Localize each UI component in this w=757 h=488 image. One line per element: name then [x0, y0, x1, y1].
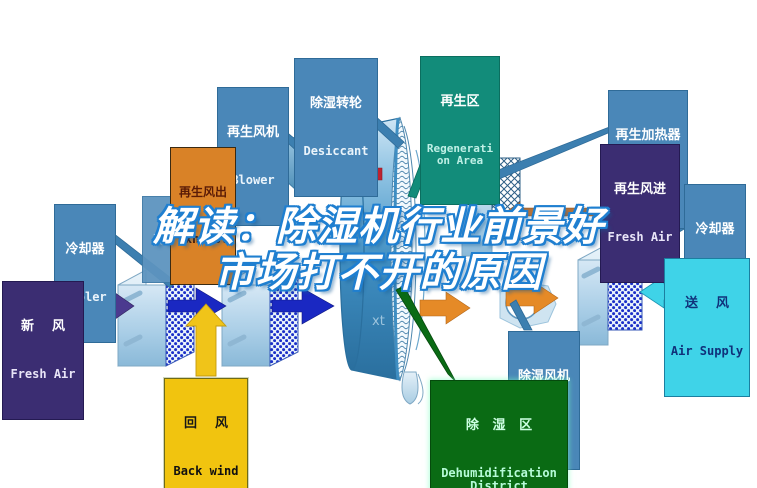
label-fresh-air-intake-en: Fresh Air: [7, 368, 79, 381]
label-regen-exhaust: 再生风出 Exhaust: [170, 147, 236, 285]
label-regen-fresh-air-en: Fresh Air: [605, 231, 675, 244]
label-regen-exhaust-cn: 再生风出: [175, 186, 231, 199]
label-air-supply: 送 风 Air Supply: [664, 258, 750, 397]
label-desiccant-rotor: 除湿转轮 Desiccant: [294, 58, 378, 197]
label-regen-blower-cn: 再生风机: [222, 126, 284, 140]
label-back-wind-en: Back wind: [169, 465, 243, 478]
label-back-wind-cn: 回 风: [169, 417, 243, 431]
label-air-supply-en: Air Supply: [669, 345, 745, 358]
label-fresh-air-intake: 新 风 Fresh Air: [2, 281, 84, 420]
label-desiccant-rotor-en: Desiccant: [299, 145, 373, 158]
label-dehum-district-en: Dehumidification District: [435, 467, 563, 488]
label-dehum-district: 除 湿 区 Dehumidification District: [430, 380, 568, 488]
label-cooler-right-cn: 冷却器: [689, 223, 741, 237]
label-cooler-left-cn: 冷却器: [59, 243, 111, 257]
label-desiccant-rotor-cn: 除湿转轮: [299, 97, 373, 111]
diagram-canvas: xt: [0, 0, 757, 488]
label-back-wind: 回 风 Back wind: [164, 378, 248, 488]
label-regen-heater-cn: 再生加热器: [613, 129, 683, 143]
label-regeneration-area-en: Regenerati on Area: [425, 143, 495, 167]
rotor-watermark: xt: [372, 314, 385, 329]
label-regeneration-area: 再生区 Regenerati on Area: [420, 56, 500, 205]
label-air-supply-cn: 送 风: [669, 297, 745, 311]
label-regen-exhaust-en: Exhaust: [175, 233, 231, 246]
label-fresh-air-intake-cn: 新 风: [7, 320, 79, 334]
label-regeneration-area-cn: 再生区: [425, 95, 495, 109]
label-regen-fresh-air-cn: 再生风进: [605, 183, 675, 197]
label-dehum-district-cn: 除 湿 区: [435, 419, 563, 433]
